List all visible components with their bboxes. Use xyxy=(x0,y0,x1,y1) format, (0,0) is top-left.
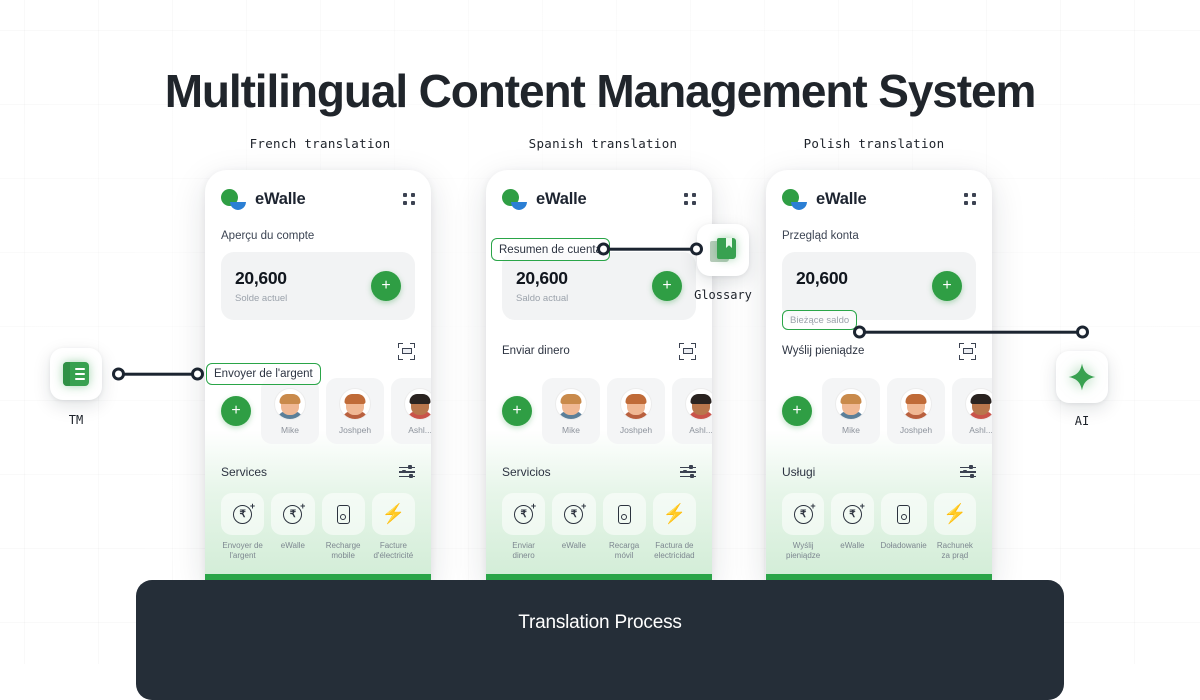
column-caption-french: French translation xyxy=(200,136,440,151)
brand-name: eWalle xyxy=(536,190,586,209)
ai-card[interactable] xyxy=(1056,351,1108,403)
connector-node xyxy=(191,368,204,381)
contact-name: Ashl... xyxy=(969,425,992,435)
contacts-list: + Mike Joshpeh xyxy=(221,378,415,444)
send-money-row: Wyślij pieniądze xyxy=(782,340,976,362)
avatar xyxy=(555,388,587,420)
add-contact-button[interactable]: + xyxy=(782,396,812,426)
service-label: Doładowanie xyxy=(881,541,927,551)
service-item[interactable]: ₹ eWalle xyxy=(831,493,873,561)
connector-node xyxy=(853,326,866,339)
add-money-button[interactable]: + xyxy=(932,271,962,301)
glossary-card[interactable] xyxy=(697,224,749,276)
column-caption-spanish: Spanish translation xyxy=(483,136,723,151)
service-item[interactable]: Recharge mobile xyxy=(322,493,365,561)
rupee-plus-icon: ₹ xyxy=(843,505,862,524)
balance-amount: 20,600 xyxy=(235,268,287,289)
avatar xyxy=(965,388,992,420)
connector-spanish-to-glossary xyxy=(597,242,703,256)
avatar xyxy=(404,388,431,420)
bottom-panel: Translation Process xyxy=(136,580,1064,700)
bolt-icon: ⚡ xyxy=(382,505,406,524)
balance-amount: 20,600 xyxy=(516,268,568,289)
contact-name: Mike xyxy=(842,425,860,435)
service-label: Enviar dinero xyxy=(502,541,545,561)
service-label: Envoyer de l'argent xyxy=(221,541,264,561)
glossary-card-caption: Glossary xyxy=(663,288,783,302)
avatar xyxy=(620,388,652,420)
contact-card[interactable]: Joshpeh xyxy=(326,378,384,444)
ewalle-logo-icon xyxy=(782,189,808,209)
service-item[interactable]: Doładowanie xyxy=(881,493,927,561)
avatar xyxy=(274,388,306,420)
services-title: Servicios xyxy=(502,465,551,479)
sliders-icon[interactable] xyxy=(399,466,415,479)
service-label: Recarga móvil xyxy=(603,541,646,561)
balance-card: 20,600 Solde actuel + xyxy=(221,252,415,320)
balance-amount: 20,600 xyxy=(796,268,855,289)
brand-name: eWalle xyxy=(816,190,866,209)
account-overview-label: Aperçu du compte xyxy=(221,230,415,242)
tm-card[interactable] xyxy=(50,348,102,400)
service-label: Factura de electricidad xyxy=(653,541,696,561)
service-label: Rachunek za prąd xyxy=(934,541,976,561)
services-title: Services xyxy=(221,465,267,479)
glossary-book-icon xyxy=(710,238,736,262)
contact-card[interactable]: Mike xyxy=(261,378,319,444)
connector-node xyxy=(597,243,610,256)
balance-sublabel: Saldo actual xyxy=(516,293,568,304)
bottom-panel-title: Translation Process xyxy=(518,612,681,700)
page-title: Multilingual Content Management System xyxy=(0,64,1200,118)
services-header: Services xyxy=(221,462,415,482)
bolt-icon: ⚡ xyxy=(663,505,687,524)
contact-name: Joshpeh xyxy=(900,425,932,435)
service-label: Recharge mobile xyxy=(322,541,365,561)
grid-dots-icon[interactable] xyxy=(684,193,696,205)
service-label: eWalle xyxy=(840,541,864,551)
sliders-icon[interactable] xyxy=(960,466,976,479)
contact-card[interactable]: Mike xyxy=(822,378,880,444)
highlight-polish-balance-sublabel[interactable]: Bieżące saldo xyxy=(782,310,857,330)
rupee-plus-icon: ₹ xyxy=(564,505,583,524)
ewalle-logo-icon xyxy=(221,189,247,209)
mobile-icon xyxy=(897,505,910,524)
rupee-plus-icon: ₹ xyxy=(794,505,813,524)
services-row: ₹ Enviar dinero ₹ eWalle Recarga móvil ⚡… xyxy=(502,493,696,561)
brand: eWalle xyxy=(502,189,586,209)
add-money-button[interactable]: + xyxy=(371,271,401,301)
service-item[interactable]: ⚡ Factura de electricidad xyxy=(653,493,696,561)
service-item[interactable]: ₹ Wyślij pieniądze xyxy=(782,493,824,561)
contact-card[interactable]: Joshpeh xyxy=(607,378,665,444)
connector-tm-to-french xyxy=(112,367,204,381)
scan-frame-icon[interactable] xyxy=(398,343,415,360)
translation-memory-icon xyxy=(63,362,89,386)
service-item[interactable]: Recarga móvil xyxy=(603,493,646,561)
rupee-plus-icon: ₹ xyxy=(283,505,302,524)
service-item[interactable]: ₹ eWalle xyxy=(271,493,314,561)
send-money-label: Enviar dinero xyxy=(502,345,570,357)
mobile-icon xyxy=(618,505,631,524)
contact-card[interactable]: Ashl... xyxy=(391,378,431,444)
balance-card: 20,600 Saldo actual + xyxy=(502,252,696,320)
contact-card[interactable]: Joshpeh xyxy=(887,378,945,444)
app-header: eWalle xyxy=(221,186,415,212)
service-label: Facture d'électricité xyxy=(372,541,415,561)
ewalle-logo-icon xyxy=(502,189,528,209)
mobile-icon xyxy=(337,505,350,524)
service-label: eWalle xyxy=(562,541,586,551)
contact-card[interactable]: Ashl... xyxy=(952,378,992,444)
balance-sublabel: Solde actuel xyxy=(235,293,287,304)
service-label: eWalle xyxy=(281,541,305,551)
brand-name: eWalle xyxy=(255,190,305,209)
avatar xyxy=(900,388,932,420)
services-row: ₹ Wyślij pieniądze ₹ eWalle Doładowanie … xyxy=(782,493,976,561)
bolt-icon: ⚡ xyxy=(943,505,967,524)
ai-sparkle-icon xyxy=(1067,362,1097,392)
contact-card[interactable]: Ashl... xyxy=(672,378,712,444)
column-caption-polish: Polish translation xyxy=(754,136,994,151)
send-money-row: Enviar dinero xyxy=(502,340,696,362)
contact-name: Joshpeh xyxy=(620,425,652,435)
add-contact-button[interactable]: + xyxy=(221,396,251,426)
brand: eWalle xyxy=(782,189,866,209)
service-item[interactable]: ₹ eWalle xyxy=(552,493,595,561)
avatar xyxy=(685,388,712,420)
phone-mockup-polish: eWalle Przegląd konta 20,600 Bieżące sal… xyxy=(766,170,992,580)
services-row: ₹ Envoyer de l'argent ₹ eWalle Recharge … xyxy=(221,493,415,561)
rupee-plus-icon: ₹ xyxy=(514,505,533,524)
connector-node xyxy=(112,368,125,381)
connector-node xyxy=(690,243,703,256)
service-item[interactable]: ₹ Enviar dinero xyxy=(502,493,545,561)
service-item[interactable]: ⚡ Rachunek za prąd xyxy=(934,493,976,561)
contact-name: Mike xyxy=(281,425,299,435)
highlight-french-send-money[interactable]: Envoyer de l'argent xyxy=(206,363,321,385)
ai-card-caption: AI xyxy=(1022,414,1142,428)
contact-name: Mike xyxy=(562,425,580,435)
avatar xyxy=(339,388,371,420)
grid-dots-icon[interactable] xyxy=(403,193,415,205)
contact-card[interactable]: Mike xyxy=(542,378,600,444)
scan-frame-icon[interactable] xyxy=(679,343,696,360)
service-label: Wyślij pieniądze xyxy=(782,541,824,561)
account-overview-label: Przegląd konta xyxy=(782,230,976,242)
highlight-spanish-account-overview[interactable]: Resumen de cuenta xyxy=(491,238,610,261)
services-header: Servicios xyxy=(502,462,696,482)
send-money-label: Wyślij pieniądze xyxy=(782,345,864,357)
sliders-icon[interactable] xyxy=(680,466,696,479)
contacts-list: + Mike Joshpeh xyxy=(782,378,976,444)
send-money-row: Envoyer de l'argent xyxy=(221,340,415,362)
contacts-list: + Mike Joshpeh xyxy=(502,378,696,444)
stage: Multilingual Content Management System F… xyxy=(0,0,1200,664)
contact-name: Ashl... xyxy=(408,425,431,435)
services-title: Usługi xyxy=(782,465,815,479)
grid-dots-icon[interactable] xyxy=(964,193,976,205)
contact-name: Joshpeh xyxy=(339,425,371,435)
connector-polish-to-ai xyxy=(853,325,1089,339)
tm-card-caption: TM xyxy=(16,413,136,427)
app-header: eWalle xyxy=(502,186,696,212)
service-item[interactable]: ₹ Envoyer de l'argent xyxy=(221,493,264,561)
add-contact-button[interactable]: + xyxy=(502,396,532,426)
phone-mockup-spanish: eWalle Resumen de cuenta 20,600 Saldo ac… xyxy=(486,170,712,580)
connector-node xyxy=(1076,326,1089,339)
services-header: Usługi xyxy=(782,462,976,482)
rupee-plus-icon: ₹ xyxy=(233,505,252,524)
app-header: eWalle xyxy=(782,186,976,212)
avatar xyxy=(835,388,867,420)
service-item[interactable]: ⚡ Facture d'électricité xyxy=(372,493,415,561)
brand: eWalle xyxy=(221,189,305,209)
scan-frame-icon[interactable] xyxy=(959,343,976,360)
contact-name: Ashl... xyxy=(689,425,712,435)
